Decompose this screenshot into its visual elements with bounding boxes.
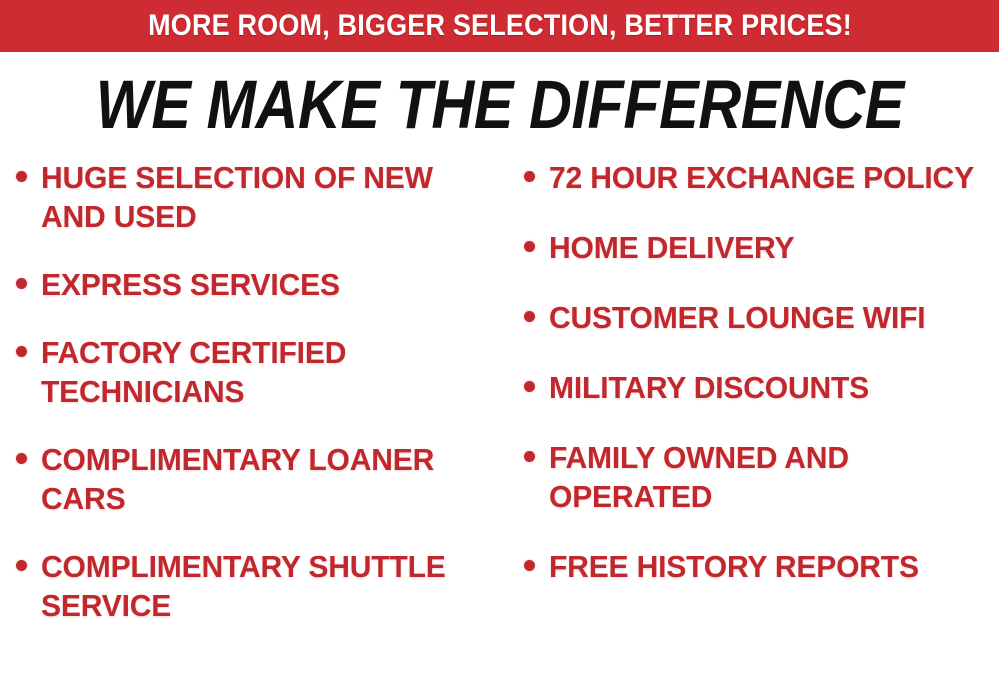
list-item-label: MILITARY DISCOUNTS	[549, 368, 869, 407]
bullet-dot-icon	[16, 346, 27, 357]
list-item: 72 HOUR EXCHANGE POLICY	[524, 158, 999, 197]
list-item: COMPLIMENTARY LOANER CARS	[16, 440, 505, 518]
list-item: FREE HISTORY REPORTS	[524, 547, 999, 586]
list-item: CUSTOMER LOUNGE WIFI	[524, 298, 999, 337]
features-columns: HUGE SELECTION OF NEW AND USED EXPRESS S…	[0, 158, 999, 692]
list-item-label: 72 HOUR EXCHANGE POLICY	[549, 158, 974, 197]
list-item: FAMILY OWNED AND OPERATED	[524, 438, 999, 516]
list-item: HUGE SELECTION OF NEW AND USED	[16, 158, 505, 236]
page-title: WE MAKE THE DIFFERENCE	[95, 70, 903, 139]
features-column-right: 72 HOUR EXCHANGE POLICY HOME DELIVERY CU…	[505, 158, 999, 617]
bullet-dot-icon	[524, 311, 535, 322]
headline-container: WE MAKE THE DIFFERENCE	[0, 62, 999, 146]
list-item: COMPLIMENTARY SHUTTLE SERVICE	[16, 547, 505, 625]
features-column-left: HUGE SELECTION OF NEW AND USED EXPRESS S…	[0, 158, 505, 654]
bullet-dot-icon	[16, 453, 27, 464]
bullet-dot-icon	[524, 560, 535, 571]
list-item-label: COMPLIMENTARY SHUTTLE SERVICE	[41, 547, 491, 625]
list-item-label: FREE HISTORY REPORTS	[549, 547, 919, 586]
list-item-label: HUGE SELECTION OF NEW AND USED	[41, 158, 491, 236]
list-item-label: COMPLIMENTARY LOANER CARS	[41, 440, 491, 518]
list-item: FACTORY CERTIFIED TECHNICIANS	[16, 333, 505, 411]
bullet-dot-icon	[524, 171, 535, 182]
bullet-dot-icon	[16, 278, 27, 289]
bullet-dot-icon	[524, 381, 535, 392]
list-item-label: HOME DELIVERY	[549, 228, 794, 267]
list-item-label: FACTORY CERTIFIED TECHNICIANS	[41, 333, 491, 411]
bullet-dot-icon	[16, 171, 27, 182]
list-item-label: FAMILY OWNED AND OPERATED	[549, 438, 986, 516]
bullet-dot-icon	[16, 560, 27, 571]
list-item: EXPRESS SERVICES	[16, 265, 505, 304]
list-item: HOME DELIVERY	[524, 228, 999, 267]
list-item: MILITARY DISCOUNTS	[524, 368, 999, 407]
promo-banner: MORE ROOM, BIGGER SELECTION, BETTER PRIC…	[0, 0, 999, 52]
promo-banner-text: MORE ROOM, BIGGER SELECTION, BETTER PRIC…	[148, 11, 852, 41]
list-item-label: EXPRESS SERVICES	[41, 265, 340, 304]
list-item-label: CUSTOMER LOUNGE WIFI	[549, 298, 925, 337]
bullet-dot-icon	[524, 241, 535, 252]
bullet-dot-icon	[524, 451, 535, 462]
